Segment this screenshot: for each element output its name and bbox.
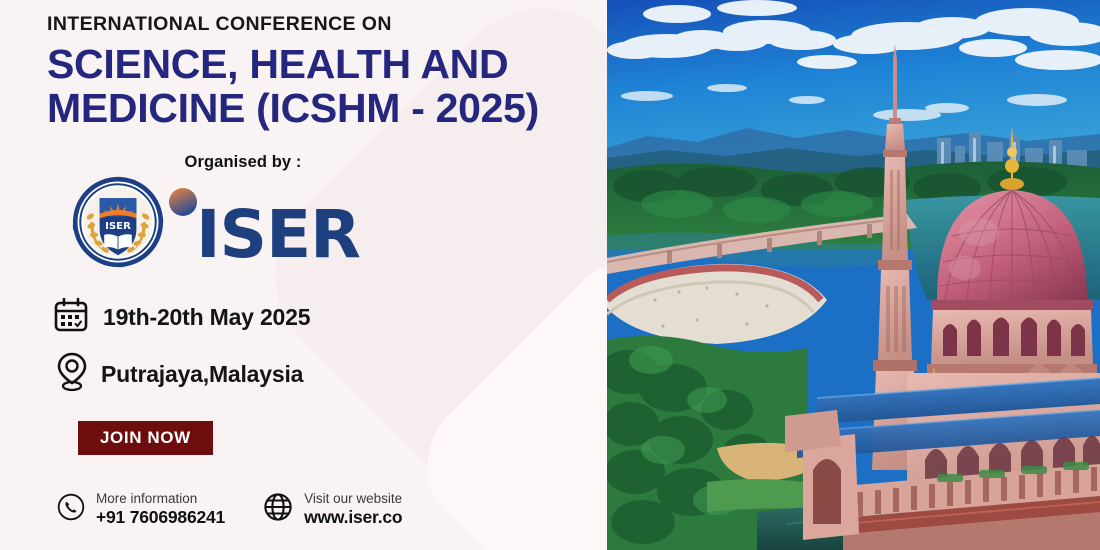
event-details: 19th-20th May 2025 Putrajaya,Malaysia xyxy=(53,297,607,397)
event-location: Putrajaya,Malaysia xyxy=(101,361,303,388)
contact-website-label: Visit our website xyxy=(304,491,402,507)
iser-emblem-icon: ISER xyxy=(72,176,164,273)
contact-phone-label: More information xyxy=(96,491,225,507)
event-date: 19th-20th May 2025 xyxy=(103,304,310,331)
iser-dot-icon xyxy=(168,186,198,260)
join-now-button[interactable]: JOIN NOW xyxy=(78,421,213,455)
iser-wordmark-text: ISER xyxy=(196,207,360,264)
contact-phone-value: +91 7606986241 xyxy=(96,507,225,528)
globe-icon xyxy=(263,492,293,527)
event-date-row: 19th-20th May 2025 xyxy=(53,297,607,338)
iser-wordmark: ISER xyxy=(168,186,360,264)
iser-logo: ISER xyxy=(72,176,607,273)
putra-mosque-photo xyxy=(607,0,1100,550)
event-location-row: Putrajaya,Malaysia xyxy=(53,352,607,397)
emblem-iser-text: ISER xyxy=(105,221,131,232)
conference-banner: INTERNATIONAL CONFERENCE ON SCIENCE, HEA… xyxy=(0,0,1100,550)
map-pin-icon xyxy=(57,352,87,397)
contact-phone[interactable]: More information +91 7606986241 xyxy=(57,491,225,528)
organised-by-label: Organised by : xyxy=(47,153,439,172)
phone-icon xyxy=(57,493,85,526)
contact-website[interactable]: Visit our website www.iser.co xyxy=(263,491,402,528)
contact-website-value: www.iser.co xyxy=(304,507,402,528)
left-info-panel: INTERNATIONAL CONFERENCE ON SCIENCE, HEA… xyxy=(0,0,607,550)
conference-kicker: INTERNATIONAL CONFERENCE ON xyxy=(47,14,607,35)
conference-title: SCIENCE, HEALTH AND MEDICINE (ICSHM - 20… xyxy=(47,43,607,131)
contact-info-row: More information +91 7606986241 xyxy=(57,491,607,528)
calendar-icon xyxy=(53,297,89,338)
